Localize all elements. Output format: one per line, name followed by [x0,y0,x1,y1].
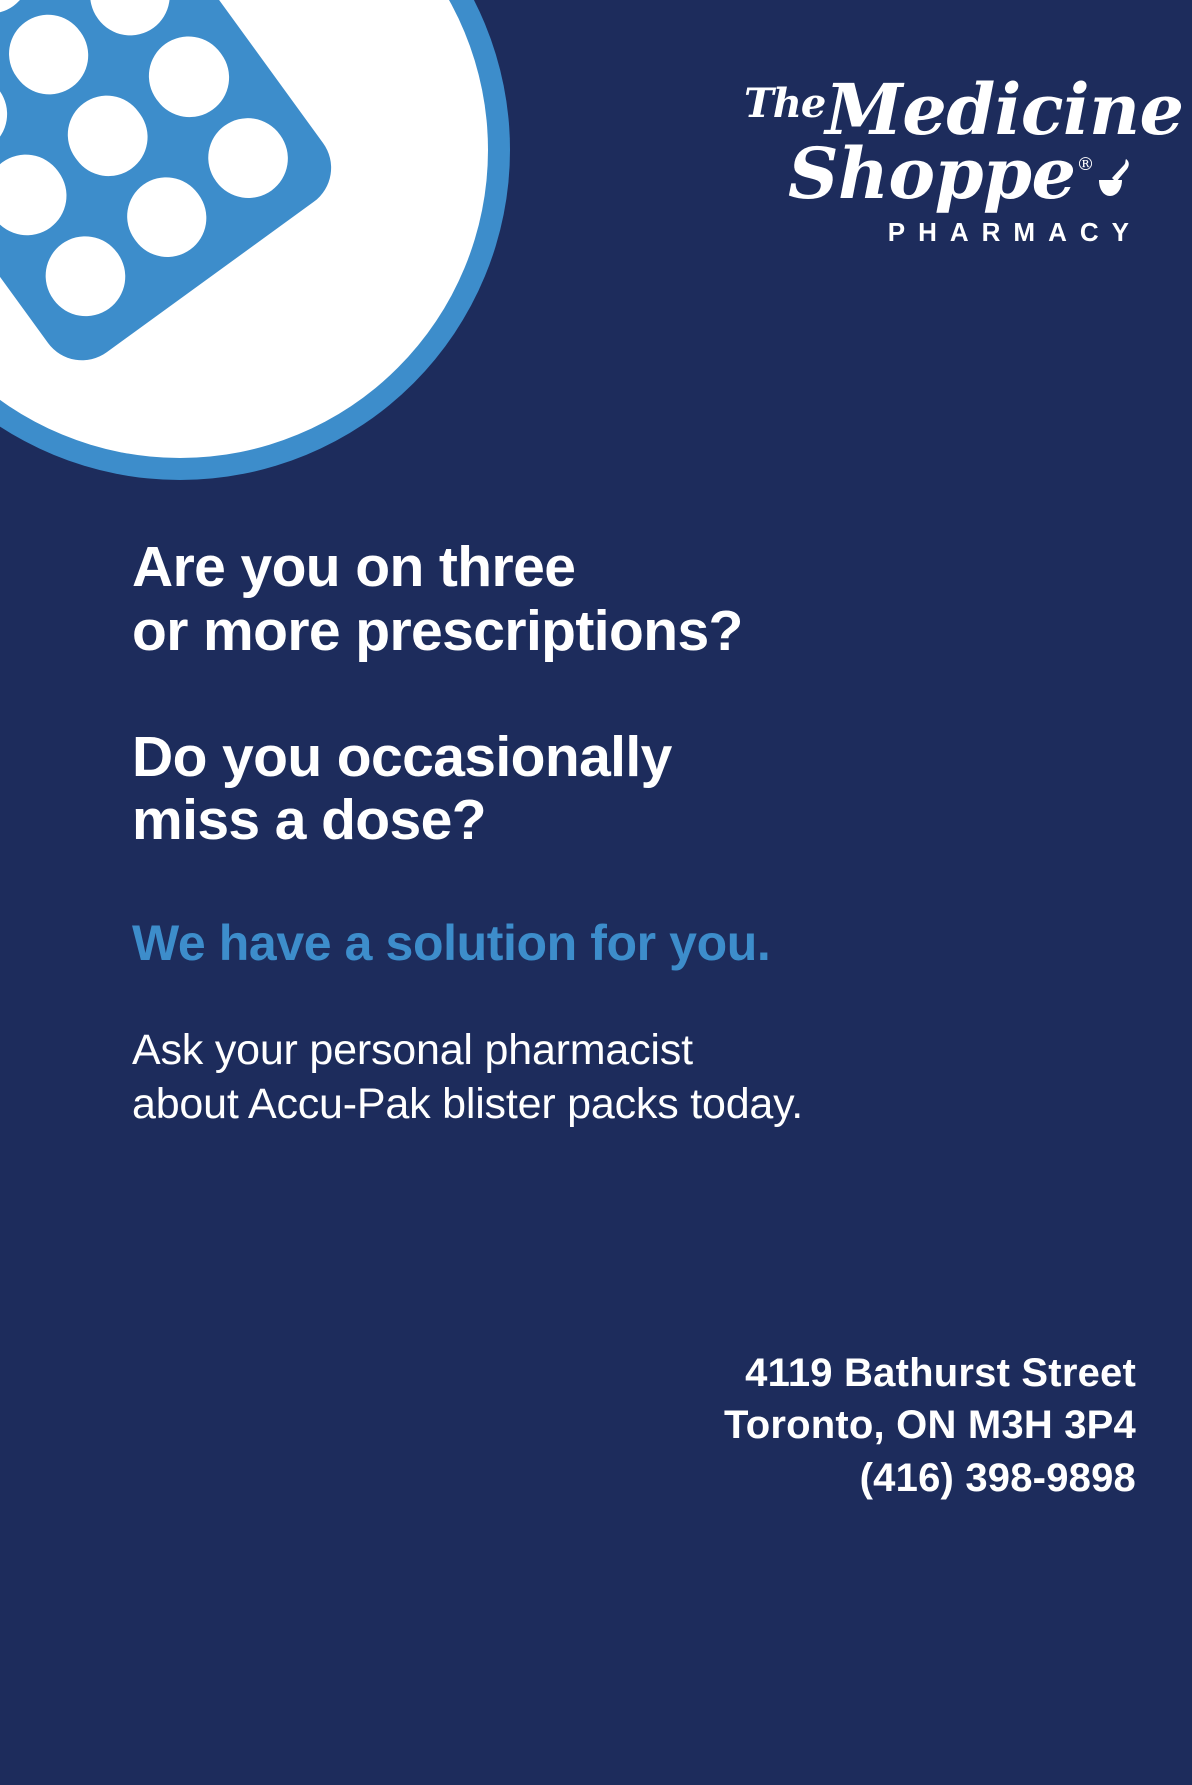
headline-secondary: Do you occasionally miss a dose? [132,726,992,854]
copy-block: Are you on three or more prescriptions? … [132,536,992,1132]
blister-pack-icon [0,0,510,480]
pill [111,161,222,272]
brand-the-word: The [744,80,825,127]
pill [193,102,304,213]
brand-shoppe-word: Shoppe [788,132,1076,215]
contact-phone[interactable]: (416) 398-9898 [724,1452,1136,1505]
contact-block: 4119 Bathurst Street Toronto, ON M3H 3P4… [724,1347,1136,1505]
pill [52,80,163,191]
pill [133,21,244,132]
brand-tagline: PHARMACY [744,217,1144,248]
registered-mark: ® [1077,154,1095,175]
contact-city-line: Toronto, ON M3H 3P4 [724,1399,1136,1452]
pill [0,0,104,110]
blister-pack-body [0,0,348,377]
poster-canvas: TheMedicine Shoppe® PHARMACY Are you on … [0,0,1192,1785]
brand-script-line-2: Shoppe® [744,142,1144,206]
pill [0,139,82,250]
brand-logo: TheMedicine Shoppe® PHARMACY [744,78,1144,248]
headline-primary: Are you on three or more prescriptions? [132,536,992,664]
pill-grid [0,0,304,332]
body-copy: Ask your personal pharmacist about Accu-… [132,1023,992,1132]
mortar-and-pestle-icon [1096,144,1140,188]
accent-line: We have a solution for you. [132,915,992,973]
pill [30,220,141,331]
badge-clip [0,0,488,458]
contact-street: 4119 Bathurst Street [724,1347,1136,1400]
